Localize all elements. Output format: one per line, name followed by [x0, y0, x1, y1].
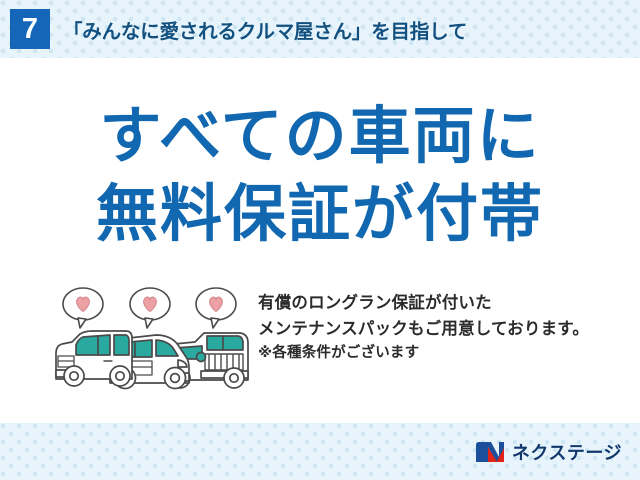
- cars-svg: [52, 283, 252, 395]
- header-title: 「みんなに愛されるクルマ屋さん」を目指して: [63, 15, 467, 44]
- nextage-n-logo-icon: [475, 441, 505, 463]
- caption-line-1: 有償のロングラン保証が付いた: [258, 290, 630, 316]
- banner-body: すべての車両に 無料保証が付帯: [0, 58, 640, 423]
- caption-block: 有償のロングラン保証が付いた メンテナンスパックもご用意しております。 ※各種条…: [258, 290, 630, 365]
- promo-banner: 7 「みんなに愛されるクルマ屋さん」を目指して すべての車両に 無料保証が付帯: [0, 0, 640, 480]
- brand-name: ネクステージ: [512, 439, 622, 465]
- caption-line-2: メンテナンスパックもご用意しております。: [258, 316, 630, 342]
- brand-lockup: ネクステージ: [475, 423, 622, 480]
- info-row: 有償のロングラン保証が付いた メンテナンスパックもご用意しております。 ※各種条…: [0, 283, 640, 398]
- headline-line-2: 無料保証が付帯: [0, 184, 640, 246]
- three-cars-illustration: [52, 283, 252, 395]
- car-kei-wagon: [56, 331, 132, 386]
- section-number-badge: 7: [10, 9, 50, 49]
- banner-footer: ネクステージ: [0, 423, 640, 480]
- banner-header: 7 「みんなに愛されるクルマ屋さん」を目指して: [0, 0, 640, 58]
- headline-line-1: すべての車両に: [0, 106, 640, 168]
- caption-line-3: ※各種条件がございます: [258, 342, 630, 365]
